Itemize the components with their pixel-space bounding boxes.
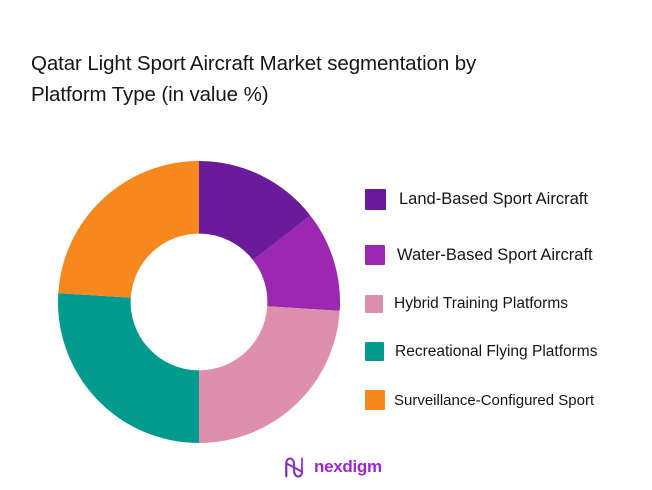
brand-logo: nexdigm (283, 456, 382, 478)
chart-title: Qatar Light Sport Aircraft Market segmen… (31, 48, 611, 110)
legend-swatch-icon (365, 245, 385, 265)
legend-item-recreational-flying-platforms[interactable]: Recreational Flying Platforms (365, 342, 597, 361)
donut-slice[interactable] (58, 161, 199, 298)
legend-item-hybrid-training-platforms[interactable]: Hybrid Training Platforms (365, 294, 568, 313)
legend-item-water-based-sport-aircraft[interactable]: Water-Based Sport Aircraft (365, 245, 593, 265)
legend-swatch-icon (365, 390, 385, 410)
donut-slice[interactable] (199, 306, 340, 443)
legend-item-label: Surveillance-Configured Sport (394, 391, 594, 410)
legend-item-label: Hybrid Training Platforms (394, 294, 568, 313)
legend-item-label: Water-Based Sport Aircraft (397, 246, 593, 265)
donut-slice[interactable] (58, 293, 199, 443)
legend-item-label: Recreational Flying Platforms (395, 342, 597, 361)
legend-item-surveillance-configured-sport[interactable]: Surveillance-Configured Sport (365, 390, 594, 410)
legend-swatch-icon (365, 342, 384, 361)
donut-chart-svg (58, 161, 340, 443)
legend-item-label: Land-Based Sport Aircraft (399, 190, 588, 209)
nexdigm-n-monogram-icon (283, 456, 307, 478)
donut-slice-group (58, 161, 340, 443)
legend-swatch-icon (365, 189, 386, 210)
legend-item-land-based-sport-aircraft[interactable]: Land-Based Sport Aircraft (365, 189, 588, 210)
legend-swatch-icon (365, 295, 383, 313)
brand-name: nexdigm (314, 457, 382, 477)
donut-chart (58, 161, 340, 443)
chart-title-line-2: Platform Type (in value %) (31, 83, 268, 106)
chart-title-line-1: Qatar Light Sport Aircraft Market segmen… (31, 52, 476, 75)
